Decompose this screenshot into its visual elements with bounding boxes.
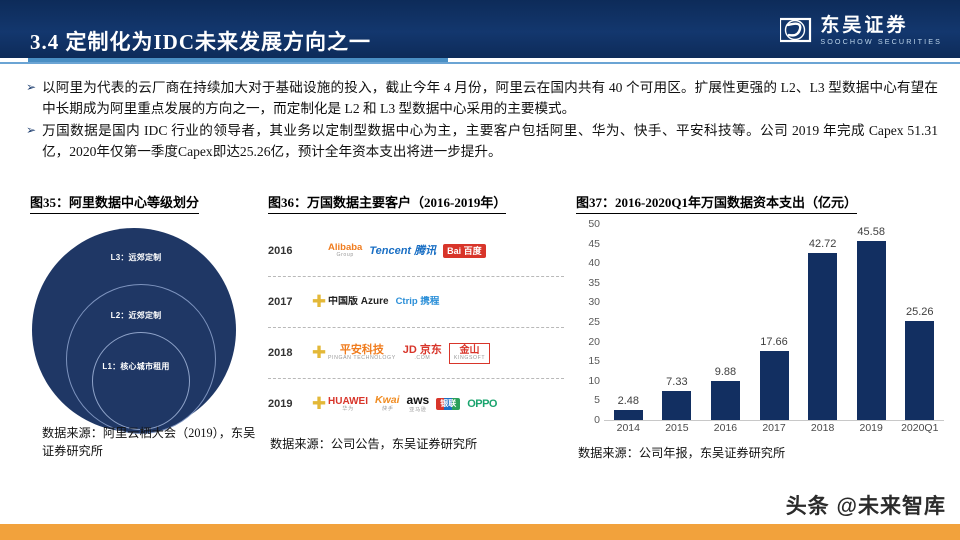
customer-brand-group: HUAWEI 华为 Kwai 快手 aws 亚马逊 银联 OPPO [328,394,564,413]
brand-aws-logo: aws 亚马逊 [407,394,430,413]
brand-kingsoft-logo: 金山 KINGSOFT [449,343,490,364]
brand-pingan-logo: 平安科技 PINGAN TECHNOLOGY [328,344,396,362]
brand-alibaba-logo: Alibaba Group [328,243,362,259]
chart-bar [711,381,740,420]
brand-oppo-logo: OPPO [467,398,497,410]
chart-x-tick: 2019 [847,422,896,442]
watermark: 头条 @未来智库 [786,490,946,520]
chart-bar [760,351,789,420]
chart-x-tick: 2020Q1 [895,422,944,442]
page-title: 3.4 定制化为IDC未来发展方向之一 [30,26,371,56]
bullet-text: 万国数据是国内 IDC 行业的领导者，其业务以定制型数据中心为主，主要客户包括阿… [42,121,938,162]
plus-icon: ✚ [310,396,328,413]
customer-row: 2018 ✚ 平安科技 PINGAN TECHNOLOGY JD 京东 .COM… [268,328,564,379]
brand-unionpay-logo: 银联 [436,398,460,411]
chart-bars: 2.487.339.8817.6642.7245.5825.26 [604,224,944,420]
nested-circles-diagram: L3：远郊定制 L2：近郊定制 L1：核心城市租用 [30,226,242,434]
logo-english-name: SOOCHOW SECURITIES [820,38,942,45]
plus-icon: ✚ [310,345,328,362]
bullet-item: ➢ 以阿里为代表的云厂商在持续加大对于基础设施的投入，截止今年 4 月份，阿里云… [26,78,938,119]
chart-bar [857,241,886,420]
chart-bar [905,321,934,420]
brand-ctrip-logo: Ctrip 携程 [396,297,440,308]
slide-canvas: 3.4 定制化为IDC未来发展方向之一 东吴证券 SOOCHOW SECURIT… [0,0,960,540]
figure-35-title: 图35：阿里数据中心等级划分 [30,192,199,214]
customer-row: 2017 ✚ 中国版 Azure Ctrip 携程 [268,277,564,328]
soochow-logo-icon [780,17,814,45]
bullet-list: ➢ 以阿里为代表的云厂商在持续加大对于基础设施的投入，截止今年 4 月份，阿里云… [26,78,938,165]
chart-y-tick: 5 [576,394,600,406]
bullet-marker-icon: ➢ [26,121,36,140]
chart-x-tick: 2017 [750,422,799,442]
figure-35: 图35：阿里数据中心等级划分 L3：远郊定制 L2：近郊定制 L1：核心城市租用… [30,192,262,434]
chart-y-tick: 20 [576,336,600,348]
chart-y-tick: 25 [576,316,600,328]
customer-row: 2016 Alibaba Group Tencent 腾讯 Bai 百度 [268,226,564,277]
customer-brand-group: Alibaba Group Tencent 腾讯 Bai 百度 [328,243,564,259]
chart-x-tick: 2018 [798,422,847,442]
figure-37: 图37：2016-2020Q1年万国数据资本支出（亿元） 50454035302… [576,192,954,446]
chart-y-tick: 35 [576,277,600,289]
chart-bar-value: 45.58 [847,226,896,238]
header-rule [0,62,960,64]
customer-row-year: 2017 [268,296,310,308]
chart-bar-item: 45.58 [847,224,896,420]
chart-bar [662,391,691,420]
chart-bar-value: 7.33 [653,376,702,388]
brand-jd-logo: JD 京东 .COM [403,344,442,362]
brand-kwai-logo: Kwai 快手 [375,395,400,413]
figure-35-source: 数据来源：阿里云栖大会（2019），东吴证券研究所 [42,424,262,461]
customer-row-year: 2019 [268,398,310,410]
figure-37-title: 图37：2016-2020Q1年万国数据资本支出（亿元） [576,192,857,214]
chart-y-axis: 50454035302520151050 [576,224,602,420]
chart-bar-value: 9.88 [701,366,750,378]
chart-y-tick: 0 [576,414,600,426]
customer-brand-group: 平安科技 PINGAN TECHNOLOGY JD 京东 .COM 金山 KIN… [328,343,564,364]
bullet-marker-icon: ➢ [26,78,36,97]
customer-logo-table: 2016 Alibaba Group Tencent 腾讯 Bai 百度 201… [268,226,564,429]
chart-bar-value: 2.48 [604,395,653,407]
brand-huawei-logo: HUAWEI 华为 [328,396,368,413]
brand-azure-logo: 中国版 Azure [328,296,389,307]
chart-plot-area: 2.487.339.8817.6642.7245.5825.26 [604,224,944,421]
capex-bar-chart: 50454035302520151050 2.487.339.8817.6642… [576,224,948,446]
chart-x-tick: 2014 [604,422,653,442]
circle-label-l1: L1：核心城市租用 [88,361,184,373]
brand-baidu-logo: Bai 百度 [443,244,486,258]
figure-36: 图36：万国数据主要客户（2016-2019年） 2016 Alibaba Gr… [268,192,568,429]
chart-bar-item: 25.26 [895,224,944,420]
chart-y-tick: 40 [576,257,600,269]
chart-y-tick: 50 [576,218,600,230]
plus-icon: ✚ [310,294,328,311]
chart-x-tick: 2016 [701,422,750,442]
chart-y-tick: 15 [576,355,600,367]
chart-bar-item: 9.88 [701,224,750,420]
bullet-item: ➢ 万国数据是国内 IDC 行业的领导者，其业务以定制型数据中心为主，主要客户包… [26,121,938,162]
chart-bar-item: 17.66 [750,224,799,420]
bottom-accent-bar [0,524,960,540]
chart-bar [808,253,837,420]
logo-wordmark: 东吴证券 SOOCHOW SECURITIES [820,16,942,45]
customer-row: 2019 ✚ HUAWEI 华为 Kwai 快手 aws 亚马逊 银联 [268,379,564,429]
customer-row-year: 2018 [268,347,310,359]
chart-y-tick: 45 [576,238,600,250]
chart-bar-value: 25.26 [895,306,944,318]
bullet-text: 以阿里为代表的云厂商在持续加大对于基础设施的投入，截止今年 4 月份，阿里云在国… [42,78,938,119]
circle-label-l2: L2：近郊定制 [88,310,184,322]
figure-37-source: 数据来源：公司年报，东吴证券研究所 [578,444,918,462]
chart-x-tick: 2015 [653,422,702,442]
circle-label-l3: L3：远郊定制 [88,252,184,264]
chart-x-axis: 2014201520162017201820192020Q1 [604,422,944,442]
chart-bar-item: 7.33 [653,224,702,420]
slide-header: 3.4 定制化为IDC未来发展方向之一 东吴证券 SOOCHOW SECURIT… [0,0,960,58]
chart-bar-item: 2.48 [604,224,653,420]
brand-tencent-logo: Tencent 腾讯 [369,245,436,257]
customer-brand-group: 中国版 Azure Ctrip 携程 [328,296,564,307]
chart-bar [614,410,643,420]
chart-bar-item: 42.72 [798,224,847,420]
figure-36-title: 图36：万国数据主要客户（2016-2019年） [268,192,506,214]
chart-bar-value: 42.72 [798,238,847,250]
chart-y-tick: 10 [576,375,600,387]
customer-row-year: 2016 [268,245,310,257]
chart-bar-value: 17.66 [750,336,799,348]
chart-y-tick: 30 [576,296,600,308]
circle-l1 [92,332,190,430]
company-logo: 东吴证券 SOOCHOW SECURITIES [780,16,942,46]
logo-chinese-name: 东吴证券 [820,16,942,35]
figure-36-source: 数据来源：公司公告，东吴证券研究所 [270,435,570,453]
